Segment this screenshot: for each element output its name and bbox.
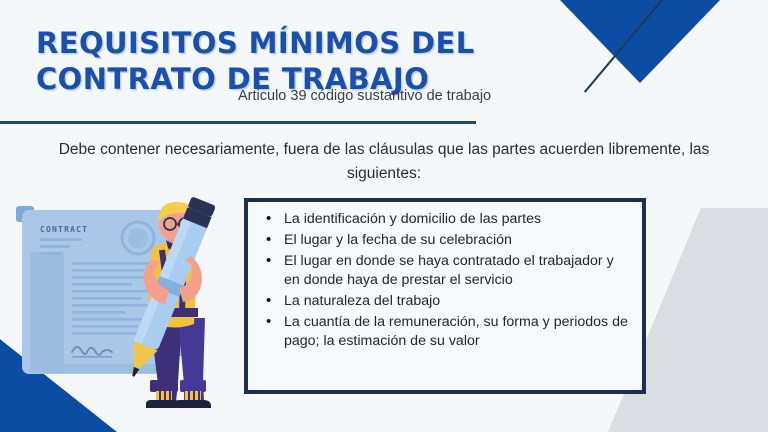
list-item: La identificación y domicilio de las par… [262,210,632,229]
list-item: La cuantía de la remuneración, su forma … [262,313,632,351]
list-item: El lugar y la fecha de su celebración [262,231,632,250]
contract-label: CONTRACT [40,225,88,234]
slide-header: REQUISITOS MÍNIMOS DEL CONTRATO DE TRABA… [0,0,768,124]
requirements-box: La identificación y domicilio de las par… [244,198,646,394]
slide-canvas: REQUISITOS MÍNIMOS DEL CONTRATO DE TRABA… [0,0,768,432]
illustration-svg: CONTRACT [10,192,242,414]
page-subtitle: Articulo 39 código sustantivo de trabajo [238,88,491,104]
list-item: La naturaleza del trabajo [262,292,632,311]
requirements-list: La identificación y domicilio de las par… [262,210,632,351]
list-item: El lugar en donde se haya contratado el … [262,252,632,290]
intro-paragraph: Debe contener necesariamente, fuera de l… [40,138,728,186]
header-divider [0,121,476,124]
page-title-line-1: REQUISITOS MÍNIMOS DEL [36,26,475,60]
person-signing-contract-illustration: CONTRACT [10,192,242,414]
